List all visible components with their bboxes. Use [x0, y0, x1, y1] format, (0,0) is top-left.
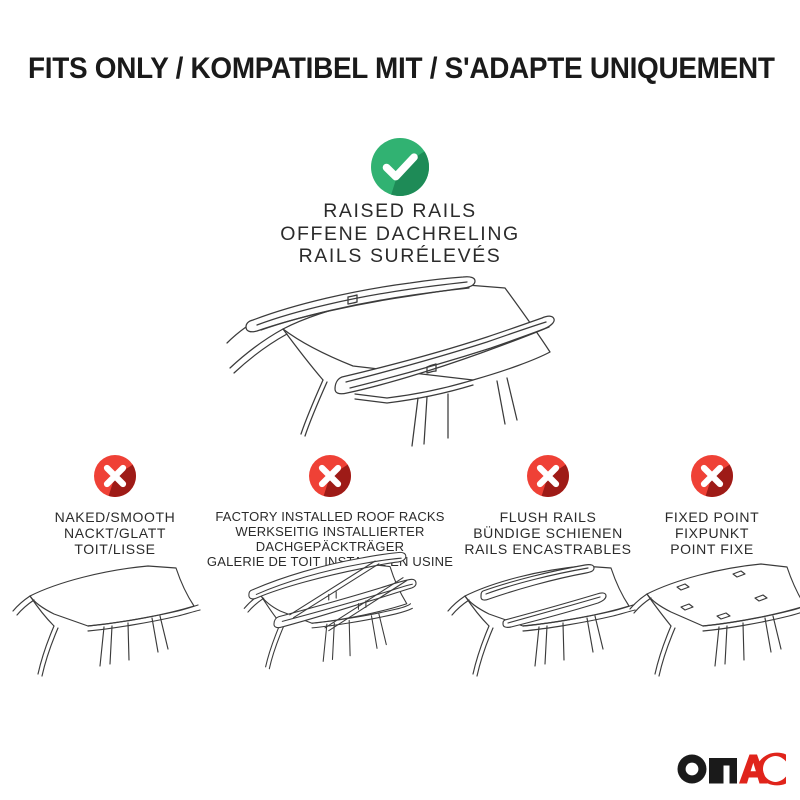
car-roof-bare-illustration — [8, 556, 213, 686]
incompatible-label-en: NAKED/SMOOTH — [15, 509, 215, 525]
incompatible-label-en: FACTORY INSTALLED ROOF RACKS — [205, 509, 455, 524]
car-roof-with-flush-rails-illustration — [443, 556, 643, 686]
car-roof-with-fixed-points-illustration — [625, 552, 800, 682]
incompatible-label-de: FIXPUNKT — [632, 525, 792, 541]
incompatible-labels: FIXED POINT FIXPUNKT POINT FIXE — [632, 509, 792, 557]
incompatible-label-de-1: WERKSEITIG INSTALLIERTER — [205, 524, 455, 539]
car-roof-with-raised-rails-illustration — [205, 274, 605, 454]
incompatible-labels: NAKED/SMOOTH NACKT/GLATT TOIT/LISSE — [15, 509, 215, 557]
cross-circle-icon — [691, 455, 733, 497]
incompatible-column-fixed-point: FIXED POINT FIXPUNKT POINT FIXE — [632, 455, 792, 557]
check-circle-icon — [371, 138, 429, 196]
cross-circle-icon — [94, 455, 136, 497]
compatible-labels: RAISED RAILS OFFENE DACHRELING RAILS SUR… — [0, 200, 800, 268]
incompatible-labels: FLUSH RAILS BÜNDIGE SCHIENEN RAILS ENCAS… — [448, 509, 648, 557]
car-roof-with-factory-crossbars-illustration — [213, 548, 438, 678]
incompatible-label-fr: TOIT/LISSE — [15, 541, 215, 557]
incompatible-label-de: NACKT/GLATT — [15, 525, 215, 541]
incompatible-label-de: BÜNDIGE SCHIENEN — [448, 525, 648, 541]
cross-circle-icon — [309, 455, 351, 497]
compatible-label-en: RAISED RAILS — [0, 200, 800, 223]
compatible-label-fr: RAILS SURÉLEVÉS — [0, 245, 800, 268]
incompatible-column-naked-smooth: NAKED/SMOOTH NACKT/GLATT TOIT/LISSE — [15, 455, 215, 557]
incompatible-label-en: FIXED POINT — [632, 509, 792, 525]
cross-circle-icon — [527, 455, 569, 497]
incompatible-label-en: FLUSH RAILS — [448, 509, 648, 525]
incompatible-label-fr: RAILS ENCASTRABLES — [448, 541, 648, 557]
incompatible-column-flush-rails: FLUSH RAILS BÜNDIGE SCHIENEN RAILS ENCAS… — [448, 455, 648, 557]
omac-logo — [676, 752, 788, 786]
compatible-label-de: OFFENE DACHRELING — [0, 223, 800, 246]
page-title: FITS ONLY / KOMPATIBEL MIT / S'ADAPTE UN… — [28, 52, 772, 86]
